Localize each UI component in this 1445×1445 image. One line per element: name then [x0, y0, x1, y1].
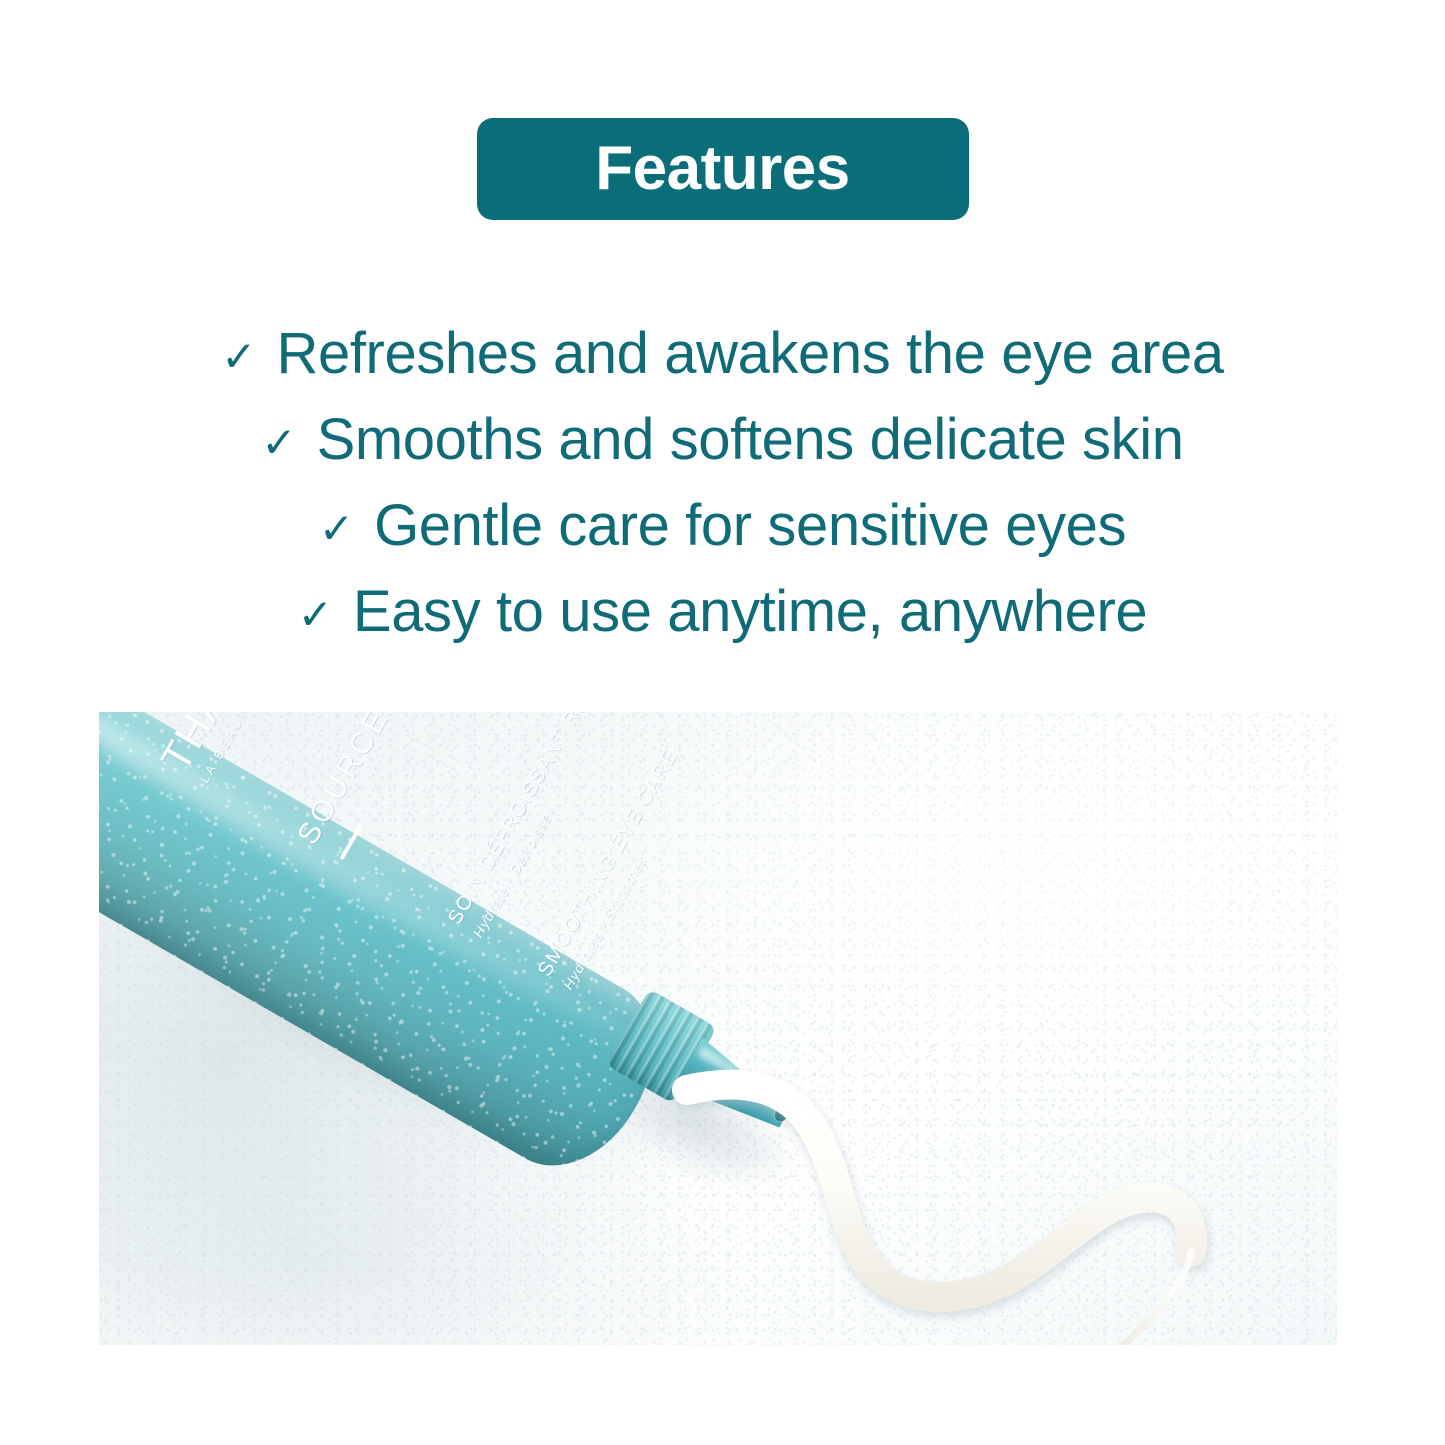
- feature-label: Easy to use anytime, anywhere: [353, 583, 1147, 641]
- feature-list: ✓ Refreshes and awakens the eye area ✓ S…: [0, 325, 1445, 669]
- check-icon: ✓: [261, 422, 296, 464]
- features-badge-label: Features: [595, 138, 849, 200]
- list-item: ✓ Smooths and softens delicate skin: [261, 411, 1183, 497]
- list-item: ✓ Refreshes and awakens the eye area: [221, 325, 1223, 411]
- features-header: Features: [0, 0, 1445, 300]
- check-icon: ✓: [319, 508, 354, 550]
- feature-label: Refreshes and awakens the eye area: [276, 325, 1223, 383]
- product-photo: THALGO LA BEAUTÉ MARINE SOURCE MARINE SO…: [99, 712, 1337, 1345]
- list-item: ✓ Gentle care for sensitive eyes: [319, 497, 1126, 583]
- cream-stroke-main: [687, 1085, 1192, 1297]
- cream-swatch: [99, 712, 1337, 1345]
- feature-label: Gentle care for sensitive eyes: [374, 497, 1126, 555]
- cream-stroke-tail: [1123, 1252, 1191, 1345]
- features-badge: Features: [477, 118, 969, 220]
- check-icon: ✓: [298, 594, 333, 636]
- check-icon: ✓: [221, 336, 256, 378]
- list-item: ✓ Easy to use anytime, anywhere: [298, 583, 1148, 669]
- feature-label: Smooths and softens delicate skin: [317, 411, 1184, 469]
